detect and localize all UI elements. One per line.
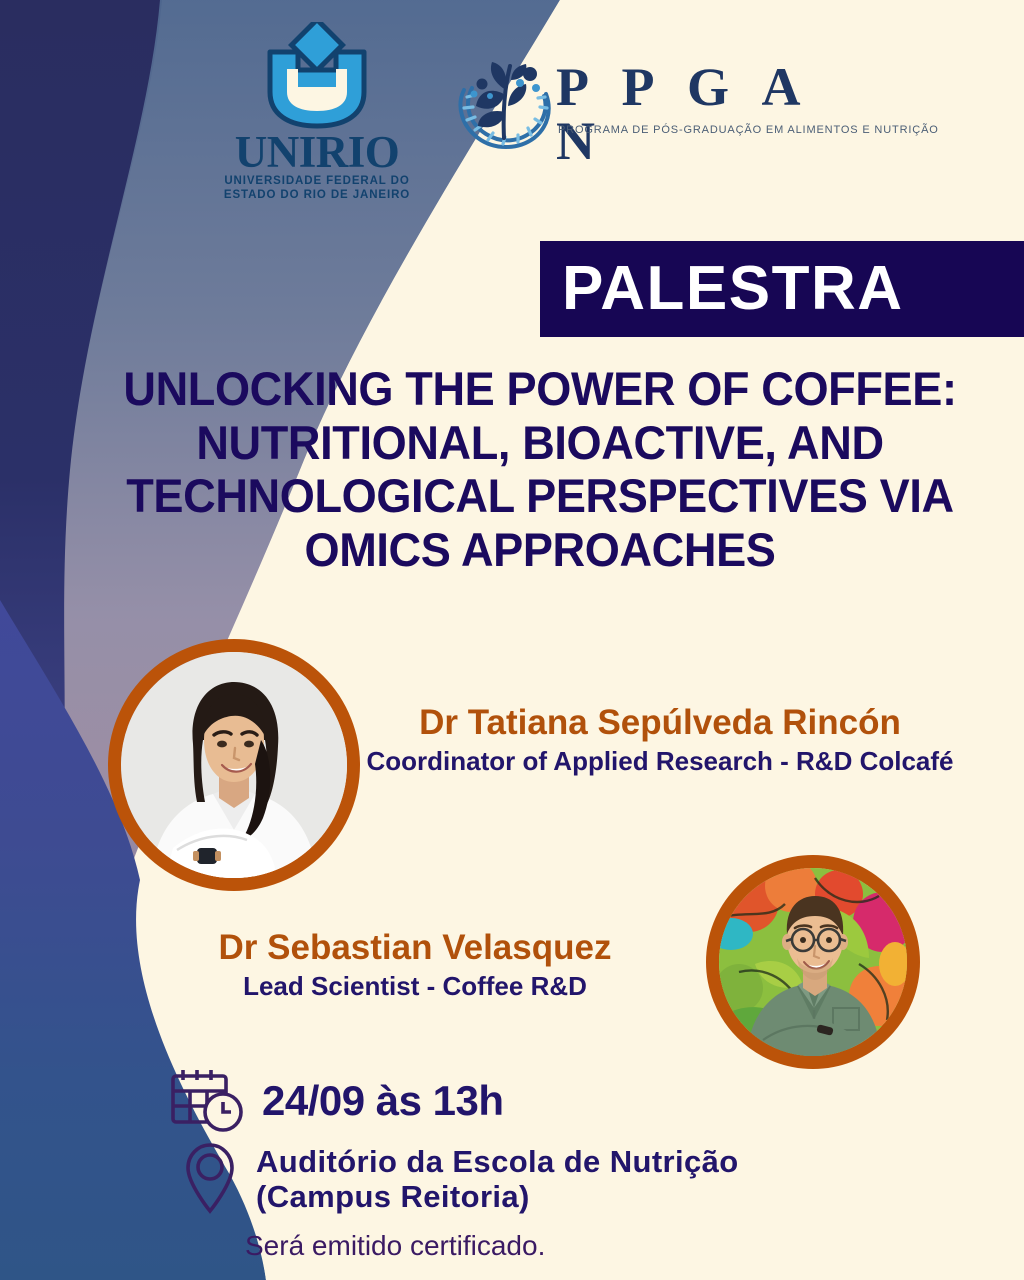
title-line-1: UNLOCKING THE POWER OF COFFEE: (114, 362, 966, 416)
speaker-photo-sebastian (706, 855, 920, 1069)
speaker-info-tatiana: Dr Tatiana Sepúlveda Rincón Coordinator … (340, 703, 980, 777)
unirio-wordmark: UNIRIO (212, 130, 422, 175)
speaker-name-tatiana: Dr Tatiana Sepúlveda Rincón (340, 703, 980, 742)
event-date-row: 24/09 às 13h (170, 1068, 504, 1134)
palestra-label: PALESTRA (540, 258, 904, 320)
logo-row: UNIRIO UNIVERSIDADE FEDERAL DO ESTADO DO… (200, 22, 900, 212)
location-pin-icon (182, 1142, 238, 1214)
ppgan-wordmark: P P G A N (556, 60, 868, 168)
speaker-info-sebastian: Dr Sebastian Velasquez Lead Scientist - … (120, 928, 710, 1002)
event-poster: UNIRIO UNIVERSIDADE FEDERAL DO ESTADO DO… (0, 0, 1024, 1280)
event-location-text: Auditório da Escola de Nutrição (Campus … (256, 1144, 739, 1215)
title-line-3: TECHNOLOGICAL PERSPECTIVES VIA (114, 469, 966, 523)
speaker-name-sebastian: Dr Sebastian Velasquez (120, 928, 710, 967)
title-line-4: OMICS APPROACHES (114, 523, 966, 577)
event-location-line2: (Campus Reitoria) (256, 1179, 739, 1214)
event-location-line1: Auditório da Escola de Nutrição (256, 1144, 739, 1179)
certificate-note: Será emitido certificado. (245, 1232, 545, 1260)
speaker-role-tatiana: Coordinator of Applied Research - R&D Co… (340, 746, 980, 777)
speaker-photo-tatiana (108, 639, 360, 891)
event-date-text: 24/09 às 13h (262, 1080, 504, 1122)
unirio-logo: UNIRIO UNIVERSIDADE FEDERAL DO ESTADO DO… (212, 22, 422, 207)
unirio-subtitle-line1: UNIVERSIDADE FEDERAL DO (224, 175, 409, 187)
event-location-row: Auditório da Escola de Nutrição (Campus … (182, 1142, 739, 1215)
ppgan-plant-dna-emblem-icon (448, 50, 556, 158)
speaker-photo-sebastian-image (719, 868, 907, 1056)
palestra-banner: PALESTRA (540, 241, 1024, 337)
unirio-u-emblem-icon (212, 22, 422, 132)
page-title: UNLOCKING THE POWER OF COFFEE: NUTRITION… (114, 362, 966, 576)
unirio-subtitle: UNIVERSIDADE FEDERAL DO ESTADO DO RIO DE… (212, 174, 422, 203)
unirio-subtitle-line2: ESTADO DO RIO DE JANEIRO (224, 189, 410, 201)
ppgan-logo: P P G A N PROGRAMA DE PÓS-GRADUAÇÃO EM A… (448, 48, 868, 173)
speaker-photo-tatiana-image (121, 652, 347, 878)
title-line-2: NUTRITIONAL, BIOACTIVE, AND (114, 416, 966, 470)
ppgan-subtitle: PROGRAMA DE PÓS-GRADUAÇÃO EM ALIMENTOS E… (558, 124, 939, 136)
speaker-role-sebastian: Lead Scientist - Coffee R&D (120, 971, 710, 1002)
calendar-clock-icon (170, 1068, 244, 1134)
